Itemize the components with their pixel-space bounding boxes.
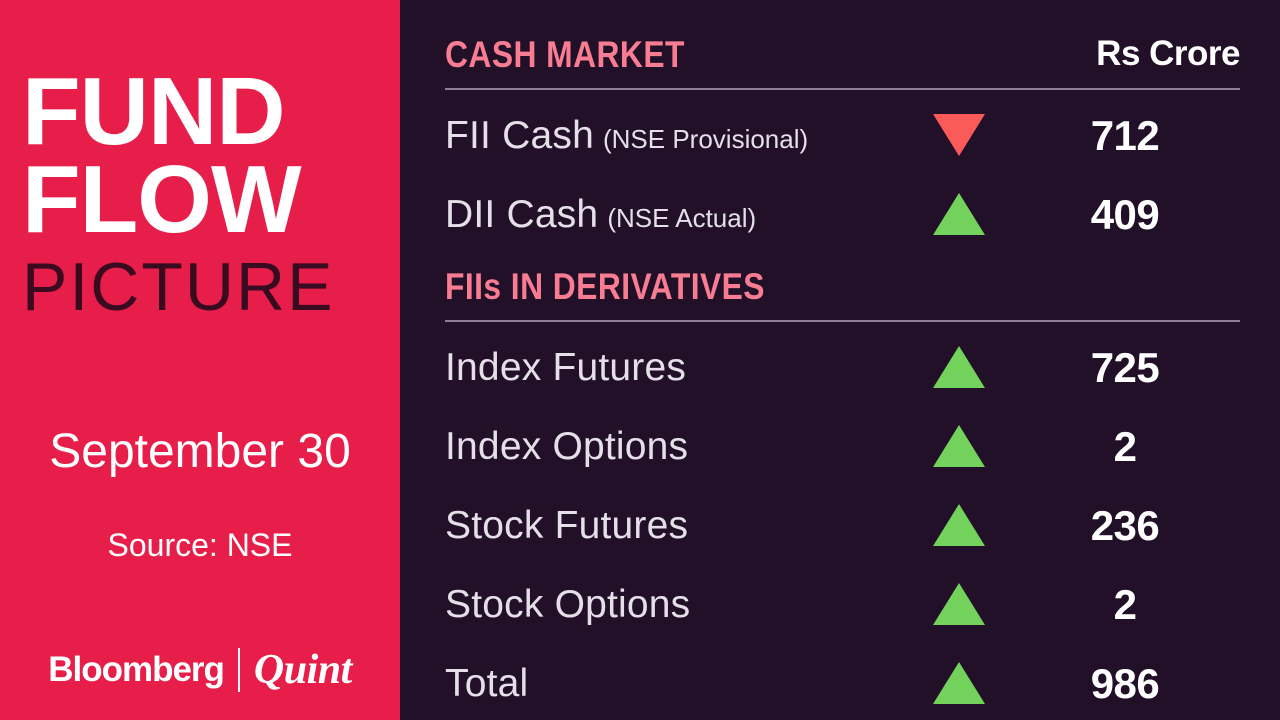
- row-value-index-options: 2: [1035, 423, 1215, 471]
- row-label-index-futures: Index Futures: [445, 346, 686, 390]
- triangle-up-icon: [933, 583, 985, 627]
- triangle-up-icon: [933, 193, 985, 237]
- logo-quint-text: Quint: [254, 646, 352, 694]
- unit-header-label: Rs Crore: [1096, 34, 1240, 74]
- row-label-index-options: Index Options: [445, 425, 688, 469]
- infographic-canvas: FUND FLOW PICTURE September 30 Source: N…: [0, 0, 1280, 720]
- row-label-sub: (NSE Provisional): [603, 124, 808, 155]
- row-label-fii-cash: FII Cash (NSE Provisional): [445, 114, 808, 158]
- section-header: FIIs IN DERIVATIVES: [445, 266, 1240, 322]
- table-row: FII Cash (NSE Provisional) 712: [445, 96, 1240, 175]
- row-value-index-futures: 725: [1035, 344, 1215, 392]
- section-cash-market: CASH MARKET Rs Crore FII Cash (NSE Provi…: [445, 34, 1240, 90]
- triangle-up-icon: [933, 662, 985, 706]
- row-label-main: Total: [445, 662, 528, 706]
- table-row: Stock Futures 236: [445, 486, 1240, 565]
- publisher-logo: Bloomberg Quint: [0, 646, 400, 694]
- row-label-main: Stock Futures: [445, 504, 688, 548]
- row-label-main: DII Cash: [445, 193, 598, 237]
- cash-market-rows: FII Cash (NSE Provisional) 712 DII Cash …: [445, 96, 1240, 254]
- section-title-cash-market: CASH MARKET: [445, 34, 685, 76]
- row-label-sub: (NSE Actual): [607, 203, 756, 234]
- data-panel: CASH MARKET Rs Crore FII Cash (NSE Provi…: [400, 0, 1280, 720]
- triangle-up-icon: [933, 504, 985, 548]
- table-row: Stock Options 2: [445, 565, 1240, 644]
- row-value-dii-cash: 409: [1035, 191, 1215, 239]
- row-value-stock-futures: 236: [1035, 502, 1215, 550]
- row-value-fii-cash: 712: [1035, 112, 1215, 160]
- table-row: Total 986: [445, 644, 1240, 720]
- section-title-fiis-in-derivatives: FIIs IN DERIVATIVES: [445, 266, 765, 308]
- data-source-label: Source: NSE: [0, 527, 400, 564]
- derivatives-rows: Index Futures 725 Index Options 2 Stock …: [445, 328, 1240, 720]
- logo-bloomberg-text: Bloomberg: [48, 650, 224, 690]
- wordmark-line-flow: FLOW: [22, 156, 382, 244]
- logo-divider: [238, 648, 240, 692]
- row-label-main: Stock Options: [445, 583, 690, 627]
- triangle-up-icon: [933, 425, 985, 469]
- wordmark-line-picture: PICTURE: [22, 253, 382, 321]
- brand-panel: FUND FLOW PICTURE September 30 Source: N…: [0, 0, 400, 720]
- brand-wordmark: FUND FLOW PICTURE: [22, 68, 382, 321]
- section-fiis-in-derivatives: FIIs IN DERIVATIVES Index Futures 725 In…: [445, 266, 1240, 322]
- wordmark-line-fund: FUND: [22, 68, 382, 156]
- section-header: CASH MARKET Rs Crore: [445, 34, 1240, 90]
- row-label-total: Total: [445, 662, 528, 706]
- table-row: Index Options 2: [445, 407, 1240, 486]
- row-value-total: 986: [1035, 660, 1215, 708]
- table-row: DII Cash (NSE Actual) 409: [445, 175, 1240, 254]
- row-label-main: FII Cash: [445, 114, 594, 158]
- report-date: September 30: [0, 424, 400, 479]
- section-divider-rule: [445, 88, 1240, 90]
- row-label-main: Index Futures: [445, 346, 686, 390]
- row-label-stock-options: Stock Options: [445, 583, 690, 627]
- triangle-down-icon: [933, 114, 985, 158]
- row-label-main: Index Options: [445, 425, 688, 469]
- section-divider-rule: [445, 320, 1240, 322]
- table-row: Index Futures 725: [445, 328, 1240, 407]
- row-label-stock-futures: Stock Futures: [445, 504, 688, 548]
- triangle-up-icon: [933, 346, 985, 390]
- row-value-stock-options: 2: [1035, 581, 1215, 629]
- row-label-dii-cash: DII Cash (NSE Actual): [445, 193, 756, 237]
